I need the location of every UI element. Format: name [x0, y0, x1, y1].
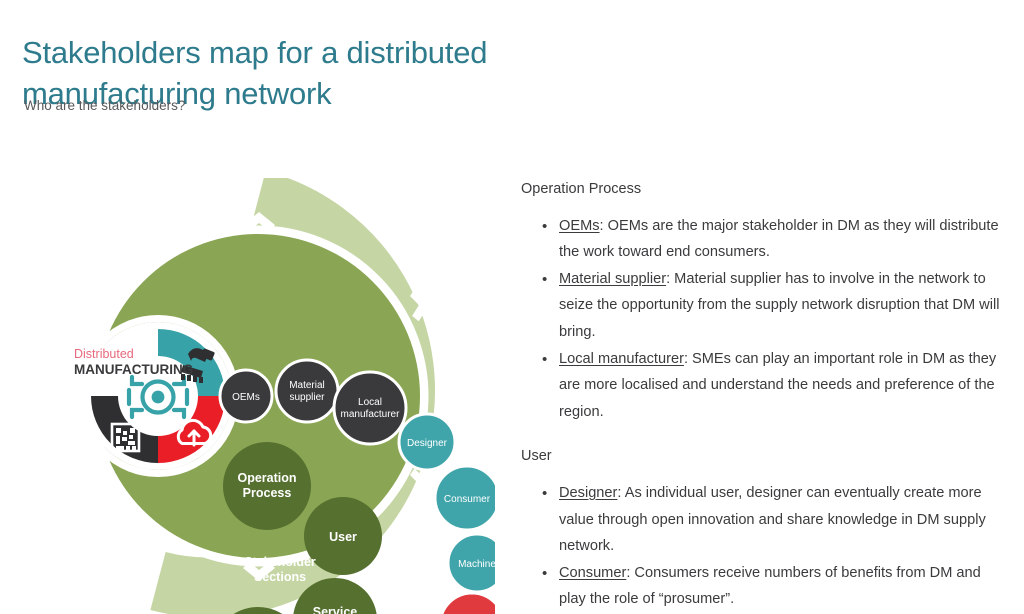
center-label-line1: Stakeholder — [244, 555, 316, 569]
list-item: OEMs: OEMs are the major stakeholder in … — [559, 213, 1007, 266]
stakeholders-map-diagram: Distributed MANUFACTURING Operation Proc… — [30, 178, 495, 614]
distributed-manufacturing-logo — [84, 322, 232, 470]
list-item: Local manufacturer: SMEs can play an imp… — [559, 346, 1007, 426]
page-root: Stakeholders map for a distributed manuf… — [0, 0, 1024, 614]
svg-text:supplier: supplier — [289, 392, 325, 403]
section-label-operation: Operation — [237, 471, 296, 485]
term-designer: Designer — [559, 485, 617, 501]
svg-text:Designer: Designer — [407, 438, 448, 449]
svg-text:manufacturer: manufacturer — [341, 409, 401, 420]
term-oems: OEMs — [559, 218, 600, 234]
stakeholder-technology-provider[interactable] — [440, 593, 495, 614]
term-local-manufacturer: Local manufacturer — [559, 351, 684, 367]
term-material-supplier: Material supplier — [559, 271, 666, 287]
list-item: Consumer: Consumers receive numbers of b… — [559, 560, 1007, 613]
heading-operation-process: Operation Process — [521, 180, 1007, 199]
svg-text:Local: Local — [358, 397, 382, 408]
section-label-user: User — [329, 530, 357, 544]
section-label-service: Service — [313, 605, 358, 614]
stakeholder-description-panel: Operation Process OEMs: OEMs are the maj… — [521, 180, 1007, 614]
term-consumer: Consumer — [559, 565, 626, 581]
list-operation-process: OEMs: OEMs are the major stakeholder in … — [521, 213, 1007, 425]
logo-line2: MANUFACTURING — [74, 362, 193, 377]
stakeholder-local-manufacturer[interactable] — [334, 372, 406, 444]
center-label-line2: Sections — [254, 570, 306, 584]
desc-designer: : As individual user, designer can event… — [559, 485, 986, 554]
list-user: Designer: As individual user, designer c… — [521, 480, 1007, 614]
section-label-process: Process — [243, 486, 292, 500]
svg-text:Machine: Machine — [458, 559, 495, 570]
stakeholder-material-supplier[interactable] — [276, 360, 338, 422]
diagram-svg: Distributed MANUFACTURING Operation Proc… — [30, 178, 495, 614]
list-item: Material supplier: Material supplier has… — [559, 266, 1007, 346]
list-item: Designer: As individual user, designer c… — [559, 480, 1007, 560]
svg-text:Material: Material — [289, 380, 325, 391]
heading-user: User — [521, 447, 1007, 466]
svg-text:Consumer: Consumer — [444, 494, 491, 505]
desc-oems: : OEMs are the major stakeholder in DM a… — [559, 218, 999, 261]
logo-line1: Distributed — [74, 347, 134, 361]
page-subtitle: Who are the stakeholders? — [24, 98, 185, 113]
stakeholder-label-oems: OEMs — [232, 392, 260, 403]
